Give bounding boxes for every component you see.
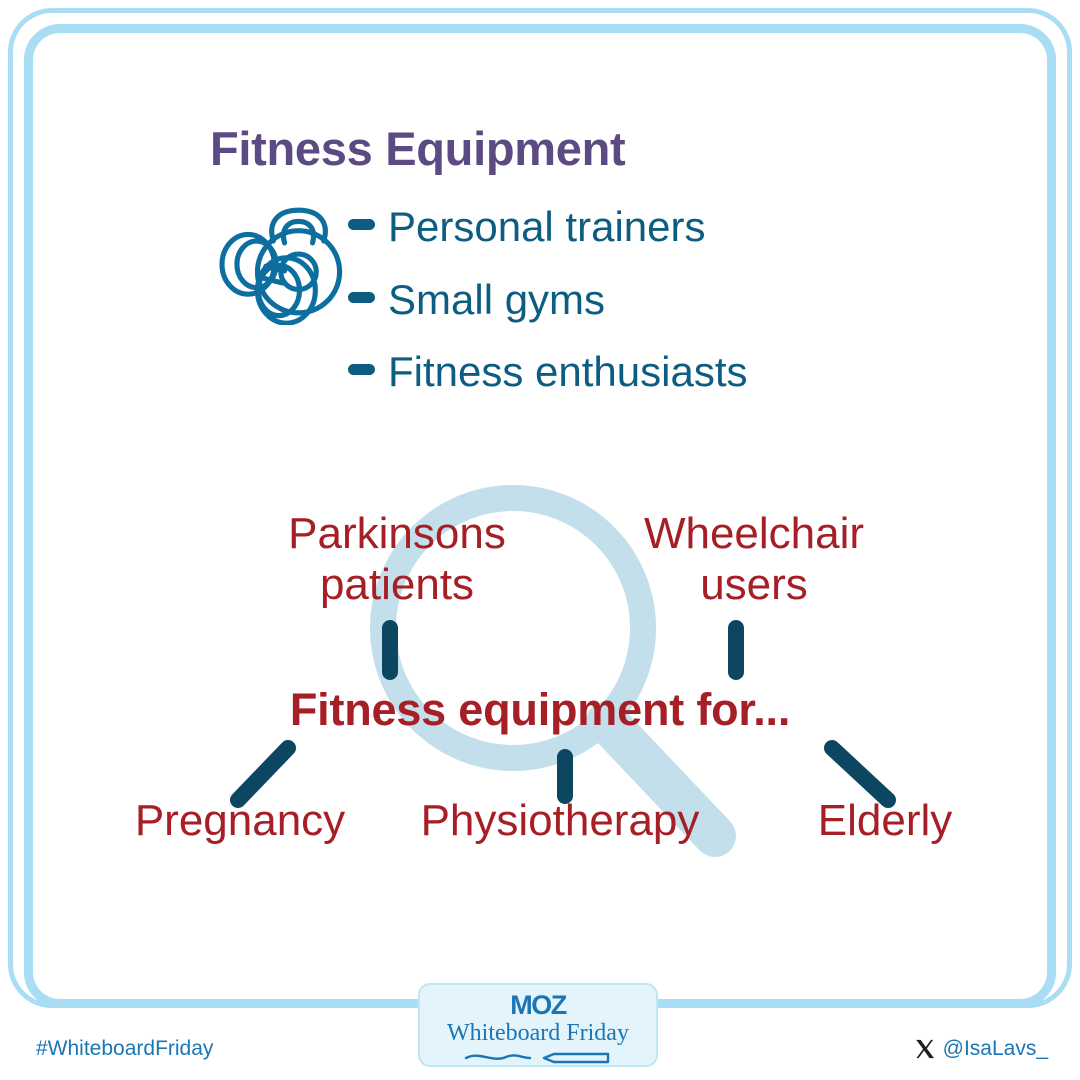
social-handle[interactable]: @IsaLavs_ (914, 1037, 1048, 1061)
hashtag-label: #WhiteboardFriday (36, 1037, 213, 1061)
mindmap-center-label: Fitness equipment for... (180, 684, 900, 736)
list-item: Fitness enthusiasts (348, 336, 908, 408)
mindmap-node-parkinsons: Parkinsons patients (232, 508, 562, 610)
mindmap-node-pregnancy: Pregnancy (70, 795, 410, 846)
page-title: Fitness Equipment (210, 124, 908, 173)
marker-pen-icon (458, 1050, 618, 1065)
list-item: Personal trainers (348, 191, 908, 263)
audience-list: Personal trainers Small gyms Fitness ent… (348, 191, 908, 408)
list-item-label: Small gyms (388, 264, 605, 336)
fitness-equipment-section: Fitness Equipment (208, 124, 908, 408)
whiteboard-canvas: Fitness Equipment (0, 0, 1080, 1080)
list-item: Small gyms (348, 264, 908, 336)
dash-bullet-icon (348, 219, 375, 230)
dash-bullet-icon (348, 364, 375, 375)
connector-elderly (832, 748, 888, 800)
dumbbell-kettlebell-icon (208, 199, 348, 325)
list-item-label: Fitness enthusiasts (388, 336, 748, 408)
x-twitter-icon (914, 1038, 936, 1060)
moz-whiteboard-friday-badge: MOZ Whiteboard Friday (418, 983, 658, 1067)
moz-logo-text: MOZ (420, 992, 656, 1019)
mindmap-node-physiotherapy: Physiotherapy (370, 795, 750, 846)
mindmap-node-wheelchair: Wheelchair users (580, 508, 928, 610)
list-item-label: Personal trainers (388, 191, 705, 263)
mindmap-node-elderly: Elderly (740, 795, 1030, 846)
dash-bullet-icon (348, 292, 375, 303)
connector-pregnancy (238, 748, 288, 800)
badge-series-label: Whiteboard Friday (420, 1020, 656, 1048)
social-handle-text: @IsaLavs_ (943, 1037, 1048, 1061)
